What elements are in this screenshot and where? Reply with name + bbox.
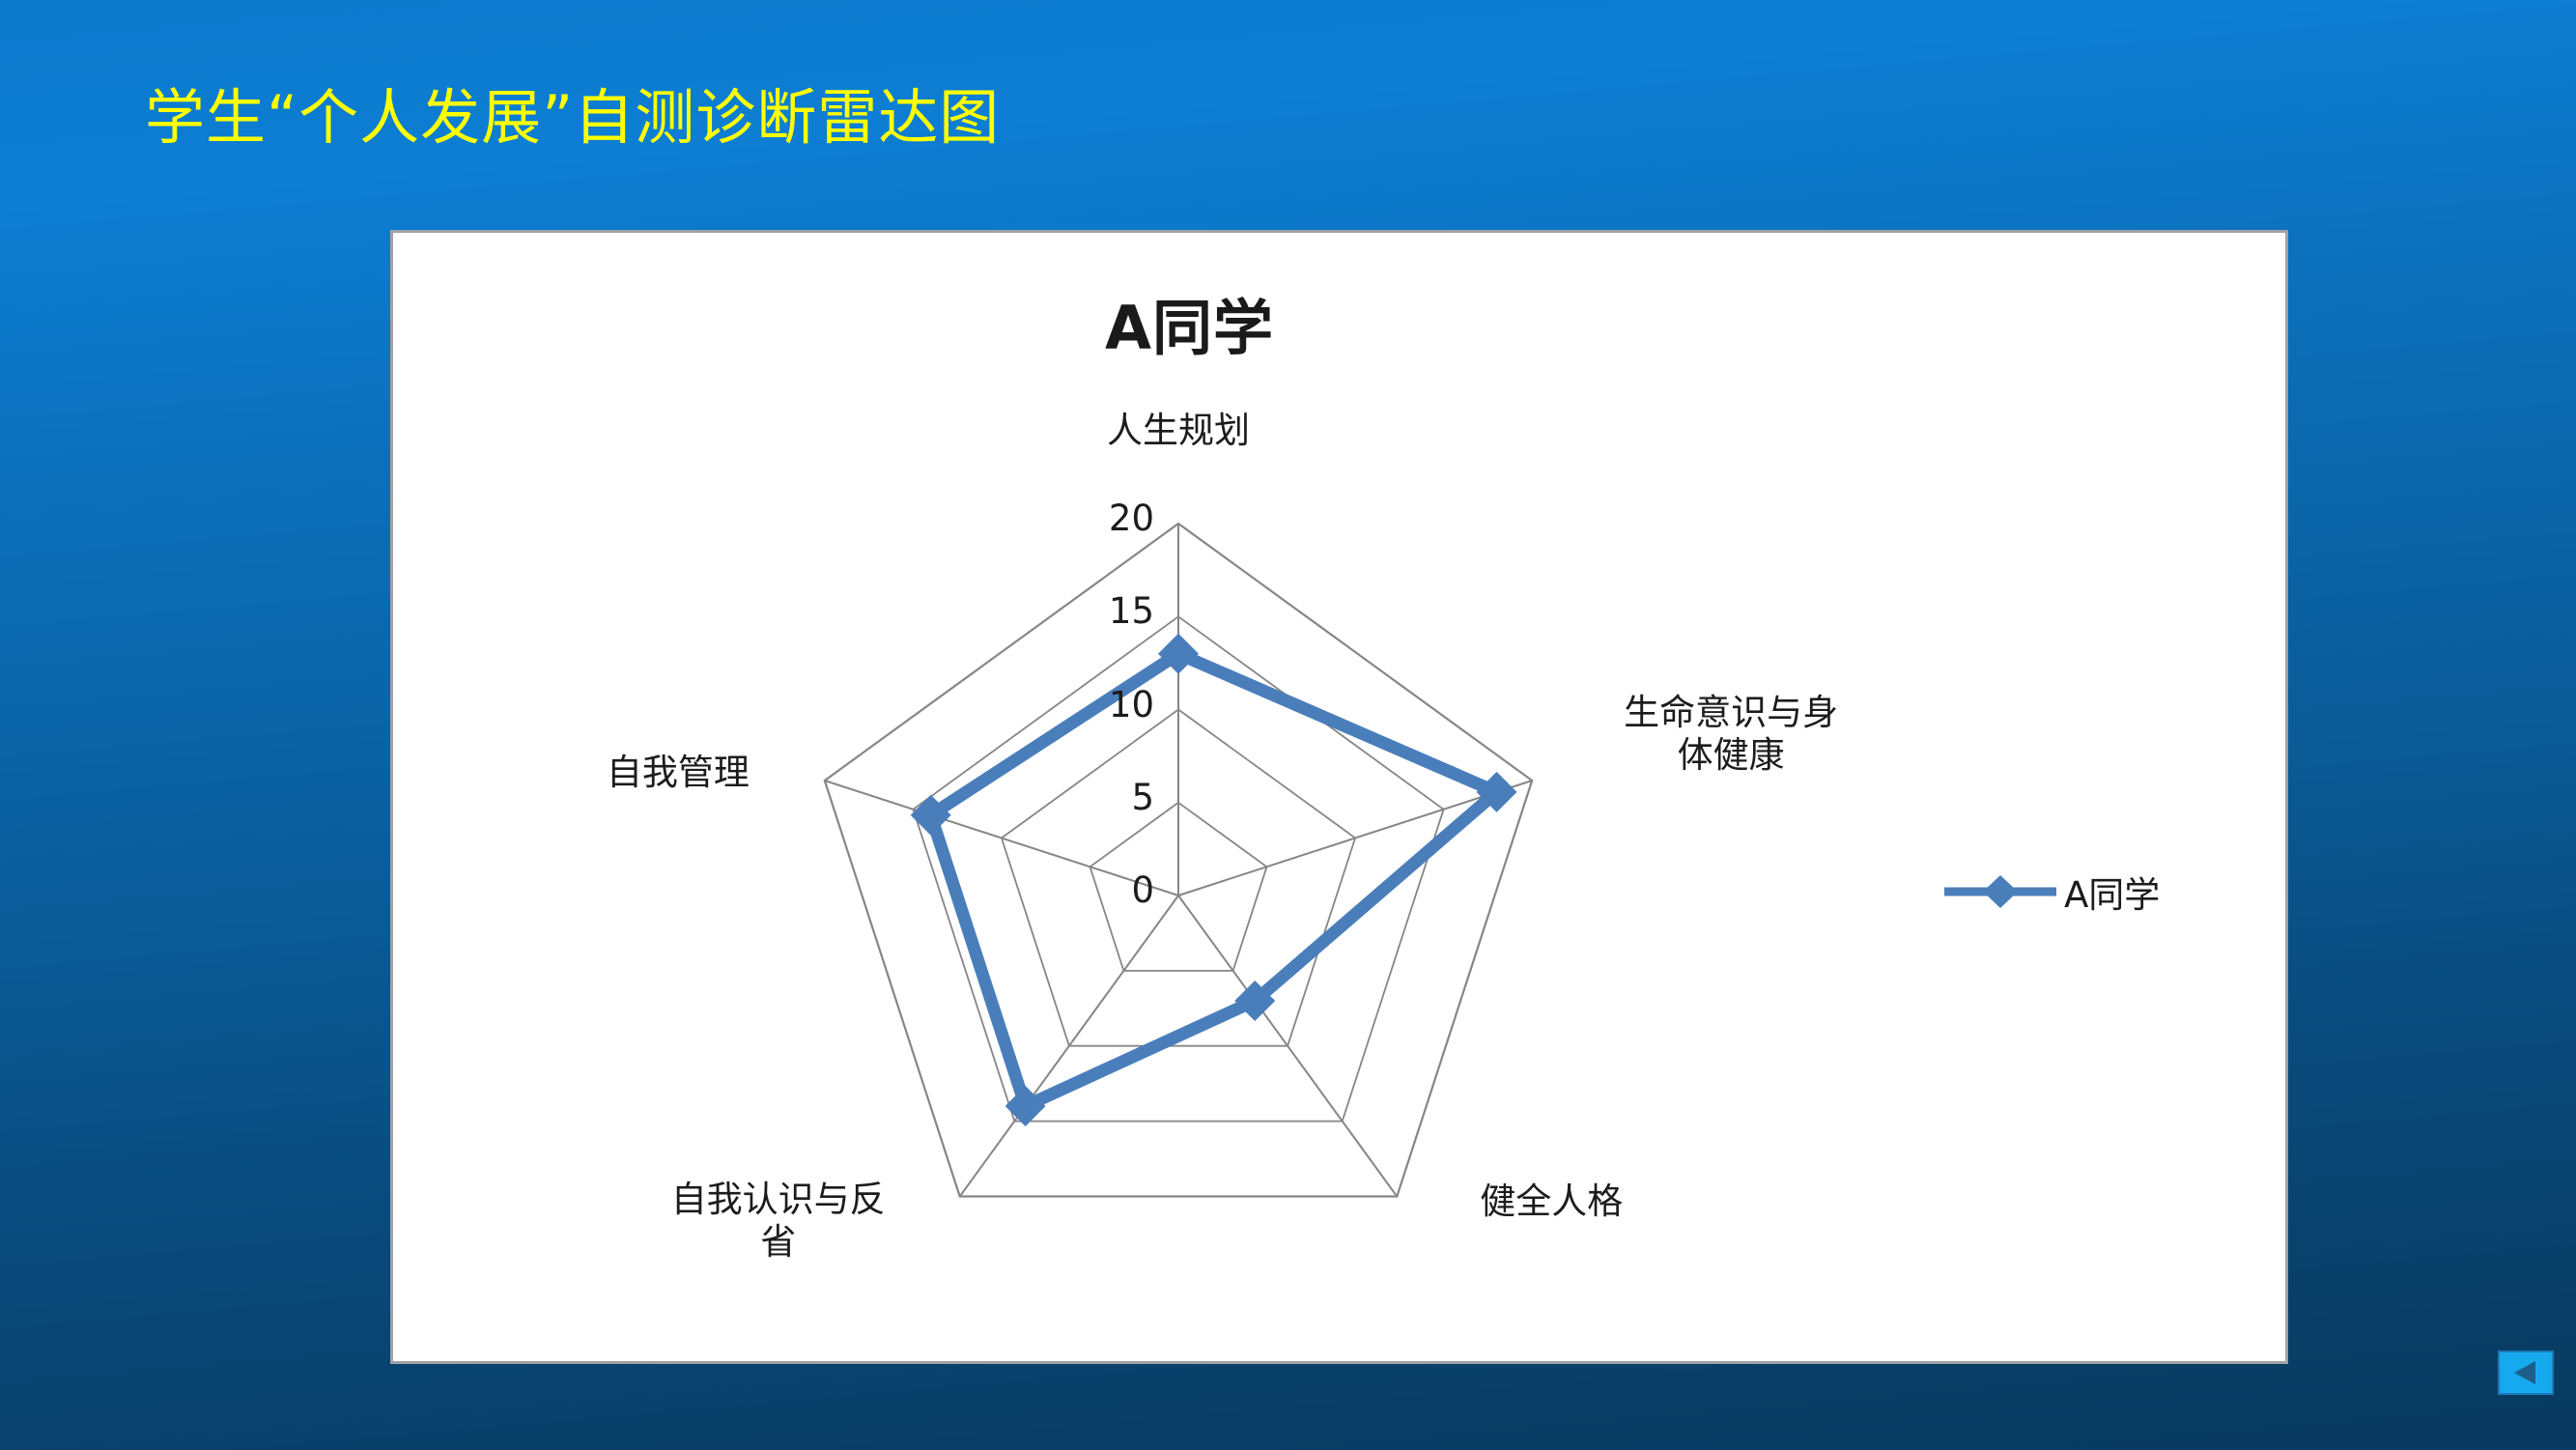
legend-marker-icon xyxy=(1939,870,2062,913)
radar-tick-5: 5 xyxy=(1019,777,1154,818)
radar-category-self-management: 自我管理 xyxy=(552,752,804,794)
back-navigation-button[interactable] xyxy=(2498,1350,2554,1395)
radar-tick-0: 0 xyxy=(1019,869,1154,911)
chart-legend[interactable]: A同学 xyxy=(1939,866,2160,918)
slide-title: 学生“个人发展”自测诊断雷达图 xyxy=(145,85,1000,151)
radar-category-sound-personality: 健全人格 xyxy=(1426,1180,1677,1223)
radar-series-a[interactable] xyxy=(911,634,1517,1126)
radar-tick-10: 10 xyxy=(1019,684,1154,725)
slide-canvas: 学生“个人发展”自测诊断雷达图 A同学 20 15 10 5 0 人生规划 生命… xyxy=(0,0,2576,1450)
radar-plot-area: 20 15 10 5 0 人生规划 生命意识与身 体健康 健全人格 自我认识与反… xyxy=(393,233,2291,1367)
radar-category-life-awareness-health: 生命意识与身 体健康 xyxy=(1576,692,1885,776)
radar-category-self-awareness-reflection: 自我认识与反 省 xyxy=(624,1179,933,1263)
triangle-left-icon xyxy=(2509,1358,2542,1387)
chart-panel: A同学 20 15 10 5 0 人生规划 生命意识与身 体健康 健全人格 自我… xyxy=(390,230,2288,1364)
radar-category-life-planning: 人生规划 xyxy=(1043,410,1314,452)
radar-tick-20: 20 xyxy=(1019,498,1154,539)
radar-tick-15: 15 xyxy=(1019,590,1154,632)
legend-label: A同学 xyxy=(2064,866,2160,918)
